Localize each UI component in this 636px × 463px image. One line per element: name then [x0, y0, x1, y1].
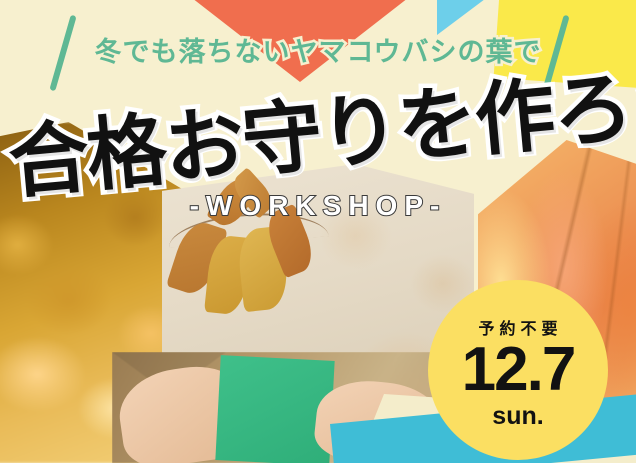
workshop-label: -WORKSHOP- [162, 190, 474, 222]
date-badge: 予約不要 12.7 sun. [428, 280, 608, 460]
badge-weekday-value: sun. [492, 402, 543, 431]
poster-subtitle: 冬でも落ちないヤマコウバシの葉で [0, 30, 636, 69]
poster-canvas: 冬でも落ちないヤマコウバシの葉で 合格お守りを作ろう -WORKSHOP- 予約… [0, 0, 636, 463]
badge-date-value: 12.7 [462, 341, 575, 400]
